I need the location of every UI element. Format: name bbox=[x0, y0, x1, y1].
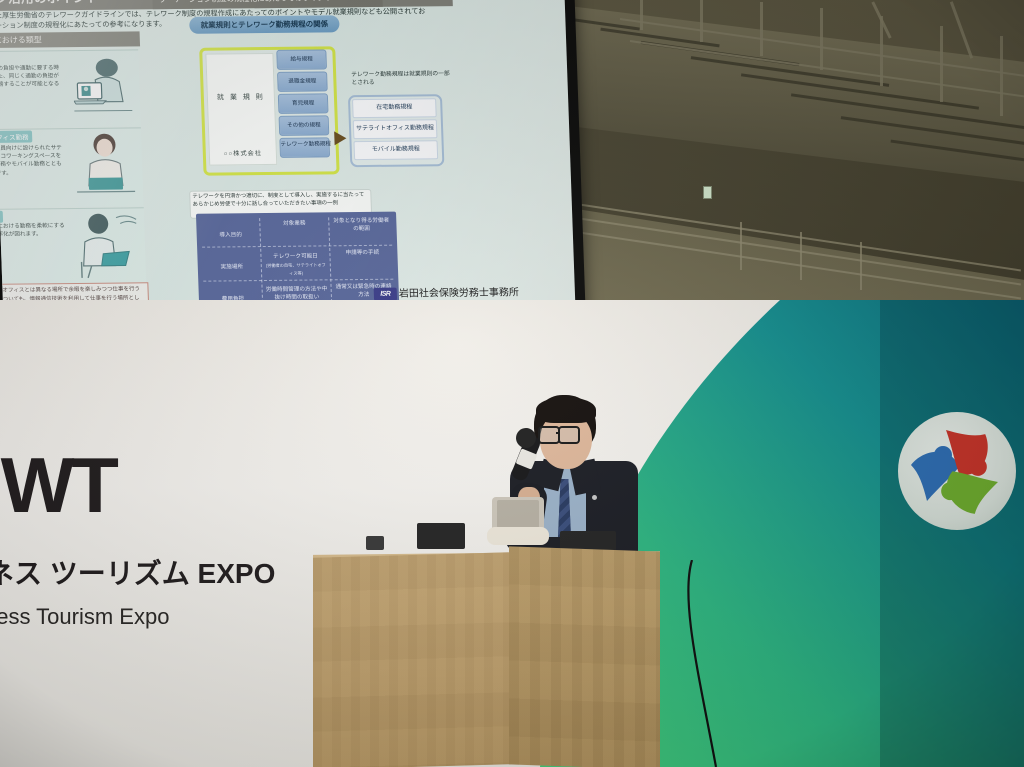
event-logo-text: iWT bbox=[0, 440, 116, 531]
podium-front-left-face bbox=[313, 552, 511, 767]
rule-chip-3: その他の規程 bbox=[279, 115, 330, 136]
table-cell-0-1: 対象業務 bbox=[263, 219, 325, 228]
rule-chip-1-label: 退職金規程 bbox=[278, 72, 327, 90]
rule-chip-2: 育児規程 bbox=[278, 93, 329, 114]
speaker-fringe bbox=[536, 397, 596, 423]
table-cell-1-1-sub: (労働者の自宅、サテライトオフィス等) bbox=[265, 261, 328, 278]
truss-post bbox=[1000, 36, 1003, 116]
telework-rule-chip-2-label: モバイル勤務規程 bbox=[355, 141, 438, 159]
table-cell-1-0: 実施場所 bbox=[205, 263, 259, 272]
truss-post bbox=[700, 0, 703, 42]
table-cell-1-1: テレワーク可能日 bbox=[264, 252, 326, 261]
diagram-blue-banner: 就業規則とテレワーク勤務規程の関係 bbox=[189, 15, 340, 34]
table-cell-0-0: 導入目的 bbox=[204, 231, 258, 240]
left-panel-2-tag: サテライトオフィス勤務 bbox=[0, 130, 33, 143]
glasses-lens-right bbox=[558, 426, 580, 444]
truss-post bbox=[640, 0, 643, 30]
left-panel-3-text: 移動中や外出先における勤務を柔軟にすることで業務の効率化が図れます。 bbox=[0, 222, 69, 240]
arrow-right-icon bbox=[334, 131, 346, 145]
rule-chip-0: 給与規程 bbox=[276, 49, 327, 70]
truss-post bbox=[820, 8, 823, 70]
work-rules-inner-box: 就 業 規 則 ○○株式会社 bbox=[205, 53, 277, 166]
roof-rafter bbox=[950, 1, 973, 58]
rule-chip-2-label: 育児規程 bbox=[279, 94, 328, 112]
left-panel-3-tag: モバイル勤務 bbox=[0, 211, 3, 223]
railing-post bbox=[740, 222, 742, 270]
rule-chip-1: 退職金規程 bbox=[277, 71, 328, 92]
presentation-slide: ーション活用のポイント に改訂された厚生労働省のテレワークガイドラインでは、テレ… bbox=[0, 0, 577, 345]
podium-front-right-face bbox=[509, 546, 660, 767]
work-rules-title: 就 業 規 則 bbox=[208, 92, 274, 103]
event-title-english: ness Tourism Expo bbox=[0, 604, 169, 630]
telework-rule-chip-1: サテライトオフィス勤務規程 bbox=[353, 119, 438, 139]
wooden-podium bbox=[313, 545, 660, 767]
telework-rule-chip-2: モバイル勤務規程 bbox=[353, 140, 438, 160]
left-panel-1-text: 通勤災害での移動の負担や通勤に要する時間が削減でき、また、同じく通勤の負担がなく… bbox=[0, 64, 64, 98]
illustration-mobile-worker bbox=[72, 209, 143, 282]
work-rules-company: ○○株式会社 bbox=[210, 148, 276, 158]
tablet-stand-base bbox=[487, 527, 549, 545]
railing-post bbox=[860, 242, 862, 290]
table-cell-0-2: 対象となり得る労働者の範囲 bbox=[331, 217, 392, 234]
emergency-exit-light-icon bbox=[703, 186, 712, 199]
rule-chip-3-label: その他の規程 bbox=[280, 116, 329, 134]
isr-logo-icon: ISR bbox=[374, 288, 397, 301]
telework-rule-chip-0-label: 在宅勤務規程 bbox=[353, 99, 436, 117]
rule-chip-4: テレワーク勤務規程 bbox=[279, 137, 330, 158]
telework-rule-note: テレワーク勤務規程は就業規則の一部とされる bbox=[351, 70, 452, 87]
illustration-satellite-office-worker bbox=[73, 131, 137, 202]
slide-subsection-label: イドラインにおける類型 bbox=[0, 31, 139, 48]
three-people-circle-logo-icon bbox=[898, 412, 1016, 530]
speaker-lapel-badge bbox=[592, 495, 597, 500]
conference-photo-scene: ーション活用のポイント に改訂された厚生労働省のテレワークガイドラインでは、テレ… bbox=[0, 0, 1024, 767]
discussion-callout-text: テレワークを円滑かつ適切に、制度として導入し、実施するに当たってあらかじめ労使で… bbox=[192, 191, 368, 209]
firm-name: 岩田社会保険労務士事務所 bbox=[399, 283, 520, 299]
diagram-blue-banner-text: 就業規則とテレワーク勤務規程の関係 bbox=[189, 15, 340, 34]
table-cell-1-2: 申請等の手続 bbox=[332, 249, 392, 258]
illustration-home-worker bbox=[72, 55, 134, 118]
rule-chip-4-label: テレワーク勤務規程 bbox=[280, 138, 328, 148]
event-title-japanese: ネス ツーリズム EXPO bbox=[0, 552, 275, 592]
backdrop-shadow-panel bbox=[880, 300, 1024, 767]
stage-cable bbox=[670, 560, 730, 767]
telework-rule-chip-0: 在宅勤務規程 bbox=[352, 98, 437, 118]
railing-post bbox=[800, 232, 802, 280]
rule-chip-0-label: 給与規程 bbox=[277, 50, 326, 68]
glasses-icon bbox=[538, 426, 560, 444]
left-panel-2-text: 企業が自社の従業員向けに設けられたサテライトオフィスやコワーキングスペースを含み… bbox=[0, 144, 67, 178]
glasses-bridge bbox=[556, 432, 559, 434]
truss-post bbox=[760, 2, 763, 56]
telework-rule-chip-1-label: サテライトオフィス勤務規程 bbox=[354, 120, 437, 138]
tablet-screen[interactable] bbox=[497, 500, 539, 528]
